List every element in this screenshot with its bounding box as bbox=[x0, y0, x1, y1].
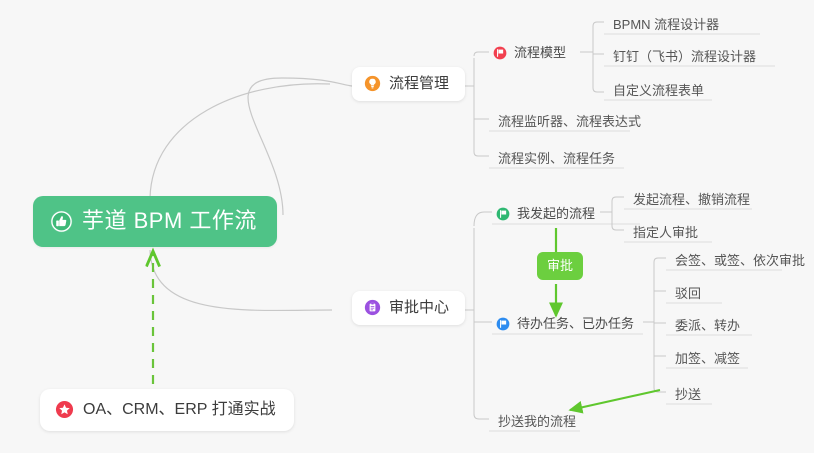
node-label-process-model: 流程模型 bbox=[514, 45, 566, 61]
leaf-label-dingtalk-designer: 钉钉（飞书）流程设计器 bbox=[613, 49, 756, 64]
star-icon bbox=[55, 400, 74, 419]
leaf-label-carbon-copy: 抄送 bbox=[675, 387, 701, 402]
connector-ac-to-cc bbox=[474, 414, 489, 419]
root-node[interactable]: 芋道 BPM 工作流 bbox=[33, 196, 277, 247]
node-todo-done-tasks[interactable]: 待办任务、已办任务 bbox=[493, 313, 642, 336]
node-process-model[interactable]: 流程模型 bbox=[490, 42, 574, 65]
mindmap-canvas: 芋道 BPM 工作流 流程管理 审批中心 流程模型 bbox=[0, 0, 814, 453]
lightbulb-icon bbox=[364, 75, 381, 92]
leaf-add-remove-sign[interactable]: 加签、减签 bbox=[666, 348, 749, 371]
node-label-process-instance: 流程实例、流程任务 bbox=[498, 151, 615, 166]
leaf-label-start-cancel-flow: 发起流程、撤销流程 bbox=[633, 192, 750, 207]
node-cc-to-me[interactable]: 抄送我的流程 bbox=[489, 411, 585, 434]
branch-node-process-management[interactable]: 流程管理 bbox=[352, 67, 465, 101]
leaf-label-delegate-transfer: 委派、转办 bbox=[675, 318, 740, 333]
leaf-carbon-copy[interactable]: 抄送 bbox=[666, 384, 710, 407]
leaf-label-custom-form: 自定义流程表单 bbox=[613, 83, 704, 98]
leaf-label-add-remove-sign: 加签、减签 bbox=[675, 351, 740, 366]
node-label-cc-to-me: 抄送我的流程 bbox=[498, 414, 576, 429]
clipboard-icon bbox=[364, 299, 381, 316]
node-label-todo-done-tasks: 待办任务、已办任务 bbox=[517, 316, 634, 332]
branch-label-process-management: 流程管理 bbox=[389, 75, 449, 92]
leaf-start-cancel-flow[interactable]: 发起流程、撤销流程 bbox=[624, 189, 759, 212]
node-label-process-listener: 流程监听器、流程表达式 bbox=[498, 114, 641, 129]
integration-callout-label: OA、CRM、ERP 打通实战 bbox=[83, 401, 276, 419]
node-process-listener[interactable]: 流程监听器、流程表达式 bbox=[489, 111, 650, 134]
leaf-label-countersign: 会签、或签、依次审批 bbox=[675, 253, 805, 268]
leaf-label-assignee-approval: 指定人审批 bbox=[633, 225, 698, 240]
flag-icon bbox=[496, 207, 510, 221]
flag-icon bbox=[493, 46, 507, 60]
connector-initiated-leaf1 bbox=[612, 197, 624, 201]
connector-ac-to-initiated bbox=[474, 212, 492, 226]
branch-node-approval-center[interactable]: 审批中心 bbox=[352, 291, 465, 325]
connector-pm-to-model bbox=[474, 52, 489, 56]
connector-todo-leaf1 bbox=[654, 258, 666, 262]
connector-root-to-process-management bbox=[248, 78, 352, 215]
approval-badge: 审批 bbox=[537, 252, 583, 280]
leaf-custom-form[interactable]: 自定义流程表单 bbox=[604, 80, 713, 103]
approval-badge-label: 审批 bbox=[547, 258, 573, 273]
node-my-initiated[interactable]: 我发起的流程 bbox=[493, 203, 603, 226]
connector-root-curve-top bbox=[150, 84, 330, 198]
connector-pm-to-instance bbox=[474, 152, 489, 156]
leaf-delegate-transfer[interactable]: 委派、转办 bbox=[666, 315, 749, 338]
leaf-countersign[interactable]: 会签、或签、依次审批 bbox=[666, 250, 814, 273]
arrow-cc-to-ccflow bbox=[570, 390, 660, 410]
integration-callout[interactable]: OA、CRM、ERP 打通实战 bbox=[40, 389, 294, 431]
leaf-reject[interactable]: 驳回 bbox=[666, 283, 710, 306]
connector-model-to-leaf1 bbox=[593, 22, 604, 26]
thumbs-up-icon bbox=[50, 210, 73, 233]
leaf-assignee-approval[interactable]: 指定人审批 bbox=[624, 222, 707, 245]
connector-todo-leaf5 bbox=[654, 388, 666, 392]
leaf-label-bpmn-designer: BPMN 流程设计器 bbox=[613, 17, 719, 32]
root-label: 芋道 BPM 工作流 bbox=[82, 209, 257, 233]
node-label-my-initiated: 我发起的流程 bbox=[517, 206, 595, 222]
connector-model-to-leaf3 bbox=[593, 88, 604, 92]
node-process-instance[interactable]: 流程实例、流程任务 bbox=[489, 148, 624, 171]
flag-icon bbox=[496, 317, 510, 331]
leaf-dingtalk-designer[interactable]: 钉钉（飞书）流程设计器 bbox=[604, 46, 765, 69]
leaf-bpmn-designer[interactable]: BPMN 流程设计器 bbox=[604, 14, 728, 37]
connector-initiated-leaf2 bbox=[612, 226, 624, 230]
connector-root-curve-bottom bbox=[150, 250, 332, 310]
leaf-label-reject: 驳回 bbox=[675, 286, 701, 301]
branch-label-approval-center: 审批中心 bbox=[389, 299, 449, 316]
